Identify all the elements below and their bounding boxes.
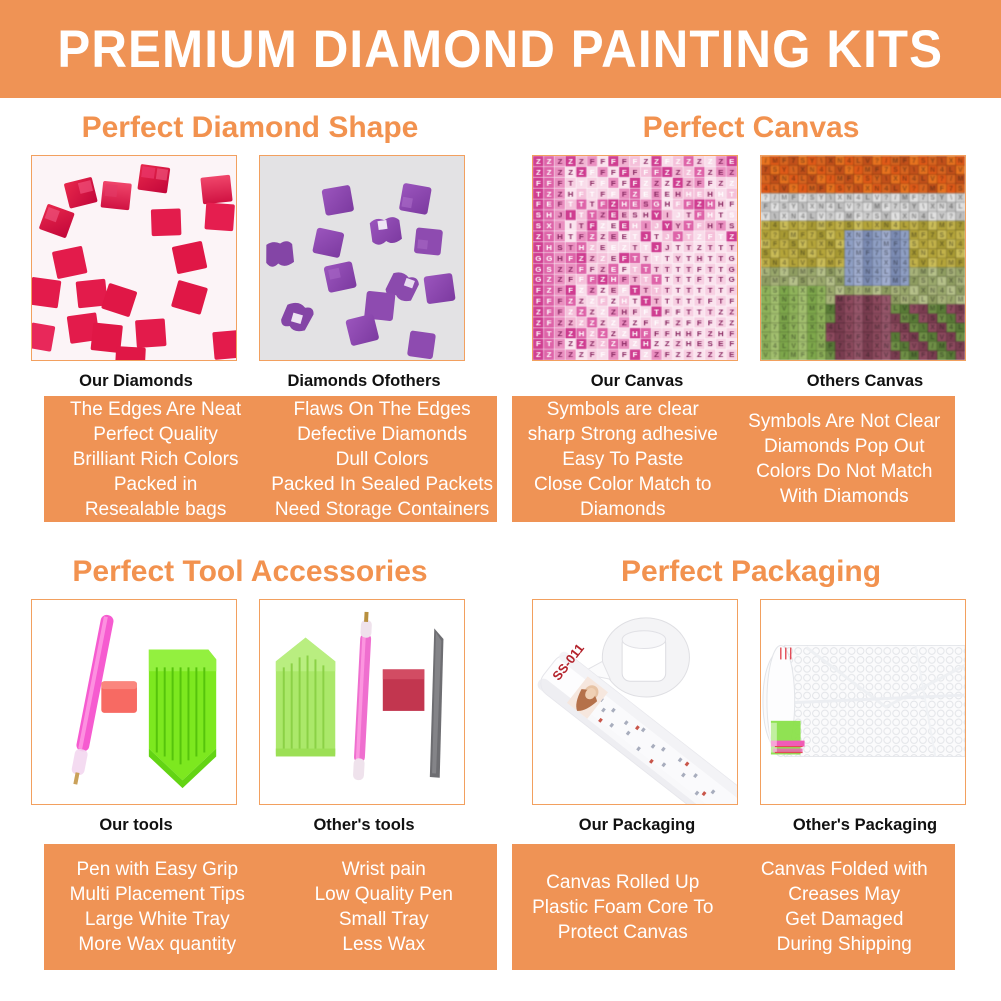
bar-line: Resealable bags (48, 497, 263, 522)
section-title: Perfect Tool Accessories (0, 555, 500, 589)
page-title: PREMIUM DIAMOND PAINTING KITS (58, 19, 944, 80)
bar-line: More Wax quantity (48, 932, 267, 957)
section-title: Perfect Diamond Shape (0, 111, 500, 145)
bar-line: Packed in (48, 472, 263, 497)
photo-others-canvas (760, 155, 966, 361)
bar-line: Creases May (738, 882, 952, 907)
photo-row: Our tools (0, 599, 500, 835)
compare-col-others: Wrist pain Low Quality Pen Small Tray Le… (271, 844, 498, 970)
photo-caption: Diamonds Ofothers (259, 372, 469, 391)
photo-others-tools (259, 599, 465, 805)
bar-line: Symbols are clear (516, 397, 730, 422)
other-tools-art (260, 600, 464, 804)
photo-caption: Our Diamonds (31, 372, 241, 391)
photo-cell-others-canvas: Others Canvas (760, 155, 970, 391)
photo-row: Our Diamonds (0, 155, 500, 391)
compare-col-ours: Symbols are clear sharp Strong adhesive … (512, 396, 734, 522)
packaging-tube-art: SS-011 (533, 600, 737, 804)
bar-line: Canvas Folded with (738, 857, 952, 882)
photo-caption: Our Canvas (532, 372, 742, 391)
photo-our-packaging: SS-011 (532, 599, 738, 805)
bar-line: Flaws On The Edges (271, 397, 493, 422)
photo-cell-our-canvas: Our Canvas (532, 155, 742, 391)
bar-line: sharp Strong adhesive (516, 422, 730, 447)
bar-line: Need Storage Containers (271, 497, 493, 522)
photo-cell-our-packaging: SS-011 Our Packaging (532, 599, 742, 835)
bar-line: Easy To Paste (516, 447, 730, 472)
bar-line: Less Wax (275, 932, 494, 957)
bar-line: Large White Tray (48, 907, 267, 932)
photo-caption: Others Canvas (760, 372, 970, 391)
bar-line: Plastic Foam Core To (516, 895, 730, 920)
bar-line: Symbols Are Not Clear (738, 409, 952, 434)
purple-diamonds-art (260, 156, 464, 360)
photo-cell-other-diamonds: Diamonds Ofothers (259, 155, 469, 391)
bubble-mailer-art (761, 600, 965, 804)
bar-line: Perfect Quality (48, 422, 263, 447)
bar-line: With Diamonds (738, 484, 952, 509)
compare-col-others: Flaws On The Edges Defective Diamonds Du… (267, 396, 497, 522)
photo-our-canvas (532, 155, 738, 361)
header-bar: PREMIUM DIAMOND PAINTING KITS (0, 0, 1001, 98)
photo-caption: Other's tools (259, 816, 469, 835)
compare-bar-canvas: Symbols are clear sharp Strong adhesive … (512, 396, 955, 522)
bar-line: Get Damaged (738, 907, 952, 932)
bar-line: Colors Do Not Match (738, 459, 952, 484)
bar-line: During Shipping (738, 932, 952, 957)
bar-line: Dull Colors (271, 447, 493, 472)
bar-line: Pen with Easy Grip (48, 857, 267, 882)
photo-caption: Other's Packaging (760, 816, 970, 835)
section-title: Perfect Packaging (501, 555, 1001, 589)
bar-line: Close Color Match to (516, 472, 730, 497)
compare-bar-tools: Pen with Easy Grip Multi Placement Tips … (44, 844, 497, 970)
bar-line: Multi Placement Tips (48, 882, 267, 907)
multicolor-symbol-grid (761, 156, 965, 360)
photo-diamonds-ofothers (259, 155, 465, 361)
photo-cell-other-packaging: Other's Packaging (760, 599, 970, 835)
photo-caption: Our Packaging (532, 816, 742, 835)
bar-line: Wrist pain (275, 857, 494, 882)
photo-cell-our-tools: Our tools (31, 599, 241, 835)
compare-col-others: Symbols Are Not Clear Diamonds Pop Out C… (734, 396, 956, 522)
section-title: Perfect Canvas (501, 111, 1001, 145)
infographic-page: PREMIUM DIAMOND PAINTING KITS Perfect Di… (0, 0, 1001, 1001)
our-tools-art (32, 600, 236, 804)
bar-line: Brilliant Rich Colors (48, 447, 263, 472)
bar-line: Small Tray (275, 907, 494, 932)
bar-line: Packed In Sealed Packets (271, 472, 493, 497)
bar-line: Protect Canvas (516, 920, 730, 945)
photo-others-packaging (760, 599, 966, 805)
compare-col-ours: Pen with Easy Grip Multi Placement Tips … (44, 844, 271, 970)
photo-our-diamonds (31, 155, 237, 361)
bar-line: Diamonds Pop Out (738, 434, 952, 459)
bar-line: Diamonds (516, 497, 730, 522)
bar-line: Low Quality Pen (275, 882, 494, 907)
compare-bar-packaging: Canvas Rolled Up Plastic Foam Core To Pr… (512, 844, 955, 970)
photo-cell-other-tools: Other's tools (259, 599, 469, 835)
photo-row: Our Canvas Others Canvas (501, 155, 1001, 391)
photo-caption: Our tools (31, 816, 241, 835)
bar-line: Canvas Rolled Up (516, 870, 730, 895)
bar-line: Defective Diamonds (271, 422, 493, 447)
compare-col-ours: Canvas Rolled Up Plastic Foam Core To Pr… (512, 844, 734, 970)
compare-col-ours: The Edges Are Neat Perfect Quality Brill… (44, 396, 267, 522)
compare-col-others: Canvas Folded with Creases May Get Damag… (734, 844, 956, 970)
photo-row: SS-011 Our Packaging (501, 599, 1001, 835)
compare-bar-diamond-shape: The Edges Are Neat Perfect Quality Brill… (44, 396, 497, 522)
red-diamonds-art (32, 156, 236, 360)
pink-symbol-grid (533, 156, 737, 360)
photo-cell-our-diamonds: Our Diamonds (31, 155, 241, 391)
photo-our-tools (31, 599, 237, 805)
bar-line: The Edges Are Neat (48, 397, 263, 422)
